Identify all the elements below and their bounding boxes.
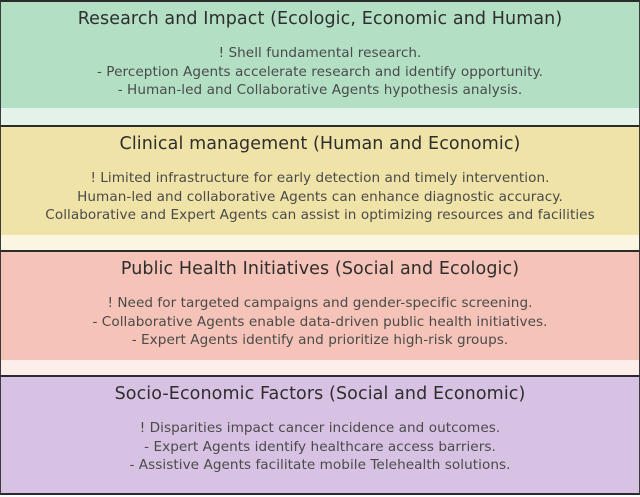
panel-line: - Expert Agents identify and prioritize … xyxy=(92,331,547,350)
panel-title: Research and Impact (Ecologic, Economic … xyxy=(78,8,563,30)
panel-line-list: ! Disparities impact cancer incidence an… xyxy=(129,419,510,475)
panel-line: Human-led and collaborative Agents can e… xyxy=(45,188,594,207)
panel-line: ! Disparities impact cancer incidence an… xyxy=(129,419,510,438)
panel-tint-band xyxy=(1,360,639,375)
diagram-root: Research and Impact (Ecologic, Economic … xyxy=(0,0,640,497)
panel-title: Clinical management (Human and Economic) xyxy=(120,133,521,155)
panel-title: Socio-Economic Factors (Social and Econo… xyxy=(115,383,526,405)
panel-title: Public Health Initiatives (Social and Ec… xyxy=(121,258,519,280)
panel-public-health-initiatives: Public Health Initiatives (Social and Ec… xyxy=(0,250,640,377)
panel-line: ! Shell fundamental research. xyxy=(97,44,543,63)
panel-line: - Perception Agents accelerate research … xyxy=(97,63,543,82)
panel-tint-band xyxy=(1,108,639,125)
panel-line: ! Limited infrastructure for early detec… xyxy=(45,169,594,188)
panel-line-list: ! Need for targeted campaigns and gender… xyxy=(92,294,547,350)
panel-line: Collaborative and Expert Agents can assi… xyxy=(45,206,594,225)
panel-tint-band xyxy=(1,235,639,250)
panel-content: Socio-Economic Factors (Social and Econo… xyxy=(1,377,639,475)
panel-socio-economic-factors: Socio-Economic Factors (Social and Econo… xyxy=(0,375,640,495)
panel-line-list: ! Limited infrastructure for early detec… xyxy=(45,169,594,225)
panel-research-and-impact: Research and Impact (Ecologic, Economic … xyxy=(0,0,640,127)
panel-line: - Collaborative Agents enable data-drive… xyxy=(92,313,547,332)
panel-content: Clinical management (Human and Economic)… xyxy=(1,127,639,225)
panel-content: Public Health Initiatives (Social and Ec… xyxy=(1,252,639,350)
panel-line: - Expert Agents identify healthcare acce… xyxy=(129,438,510,457)
panel-line-list: ! Shell fundamental research. - Percepti… xyxy=(97,44,543,100)
panel-line: - Human-led and Collaborative Agents hyp… xyxy=(97,81,543,100)
panel-clinical-management: Clinical management (Human and Economic)… xyxy=(0,125,640,252)
panel-line: - Assistive Agents facilitate mobile Tel… xyxy=(129,456,510,475)
panel-content: Research and Impact (Ecologic, Economic … xyxy=(1,2,639,100)
panel-line: ! Need for targeted campaigns and gender… xyxy=(92,294,547,313)
